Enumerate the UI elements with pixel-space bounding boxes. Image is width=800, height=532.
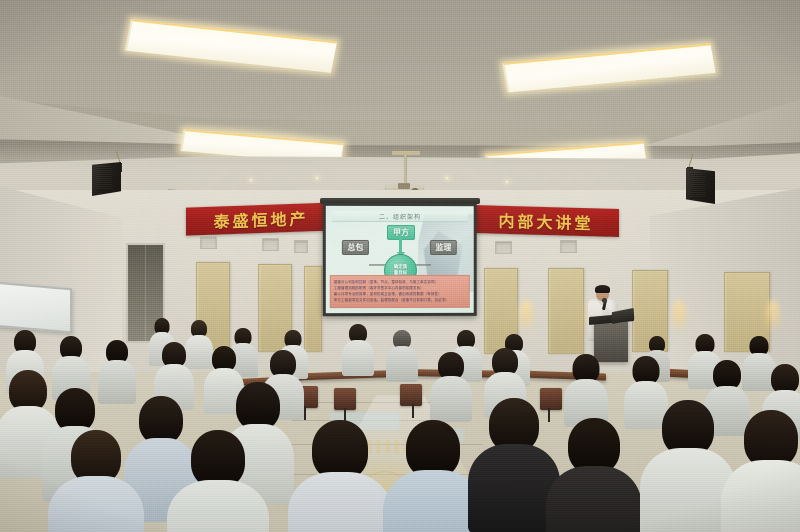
audience-body [430, 376, 472, 422]
wall-sconce [519, 300, 533, 334]
presenter-hair [595, 285, 610, 293]
audience-body [546, 466, 642, 532]
wall-niche [294, 240, 308, 253]
slide-textbox: 建管分公司如何控制（进场、节点、整体验收，与施工单位协同） 工程管理流程的职责（… [330, 275, 470, 308]
audience-person [156, 342, 192, 402]
audience-body [288, 472, 392, 532]
audience-body [342, 340, 374, 376]
slide-surface: 二、组织架构 甲方 总包 监理 确定质 量目标 建管分公司如何控制（进场、节 [326, 206, 474, 313]
audience-person [388, 330, 416, 378]
downlight [444, 176, 450, 180]
banner-left: 泰盛恒地产 [186, 202, 336, 235]
wall-niche [262, 238, 279, 251]
slide-textbox-line: 最小分项专业的效率，如何形成正反馈，做出系统的数据（有效性） [334, 293, 466, 297]
banner-right-text: 内部大讲堂 [498, 208, 593, 235]
audience-body [721, 460, 800, 532]
audience-person [54, 336, 88, 394]
diagram-link-right [416, 264, 431, 266]
diagram-link-left [369, 264, 385, 266]
audience-body [386, 346, 418, 382]
audience-person [100, 340, 134, 398]
banner-right: 内部大讲堂 [473, 205, 619, 237]
wall-niche [495, 241, 512, 254]
projection-screen: 二、组织架构 甲方 总包 监理 确定质 量目标 建管分公司如何控制（进场、节 [323, 203, 477, 316]
audience-body [167, 480, 269, 532]
audience-person [478, 398, 550, 510]
wall-panel [304, 266, 322, 352]
chair-leg [304, 406, 306, 420]
diagram-node-top: 甲方 [387, 225, 415, 240]
audience-person [58, 430, 134, 532]
chair[interactable] [400, 384, 422, 406]
wall-panel [548, 268, 584, 354]
wall-sconce [672, 300, 686, 334]
audience-head [236, 382, 280, 430]
audience-person [178, 430, 258, 532]
audience-head [139, 396, 183, 444]
slide-titlebar: 二、组织架构 [332, 211, 468, 222]
slide-title: 二、组织架构 [379, 211, 421, 220]
diagram-node-right-label: 监理 [435, 242, 451, 253]
slide-textbox-line: 建管分公司如何控制（进场、节点、整体验收，与施工单位协同） [334, 280, 466, 284]
wall-sconce [766, 300, 780, 334]
diagram-node-left: 总包 [342, 240, 369, 255]
wall-speaker-right [686, 168, 715, 204]
audience-body [48, 476, 144, 532]
wall-niche [200, 236, 217, 249]
diagram-node-left-label: 总包 [347, 242, 363, 253]
audience-person [344, 324, 372, 372]
audience-head [312, 420, 368, 480]
audience-person [566, 354, 606, 418]
whiteboard [0, 282, 72, 334]
downlight [504, 180, 510, 184]
wall-speaker-left [92, 162, 121, 196]
slide-textbox-line: 工程管理流程的职责（各环节签字中心内部的权限关系） [334, 287, 466, 291]
ceiling-light-panel-2 [502, 43, 715, 92]
slide-textbox-line: 甲方工程部项目文件归总结、监理的配合（进度不达标制订表、治证流） [334, 299, 466, 303]
chair[interactable] [334, 388, 356, 410]
audience-person [732, 410, 800, 530]
chair-leg [412, 404, 414, 418]
banner-left-text: 泰盛恒地产 [213, 205, 308, 232]
audience-person [556, 418, 632, 532]
diagram-node-top-label: 甲方 [393, 227, 409, 238]
wall-niche [560, 240, 577, 253]
diagram-node-right: 监理 [430, 240, 457, 255]
downlight [248, 178, 254, 182]
audience-person [650, 400, 726, 516]
audience-person [394, 420, 472, 532]
downlight [314, 176, 320, 180]
audience-person [432, 352, 470, 414]
microphone-head [602, 298, 607, 303]
projector-detail [398, 183, 410, 189]
conference-room-photo: 泰盛恒地产 内部大讲堂 二、组织架构 甲方 [0, 0, 800, 532]
audience-person [300, 420, 380, 532]
